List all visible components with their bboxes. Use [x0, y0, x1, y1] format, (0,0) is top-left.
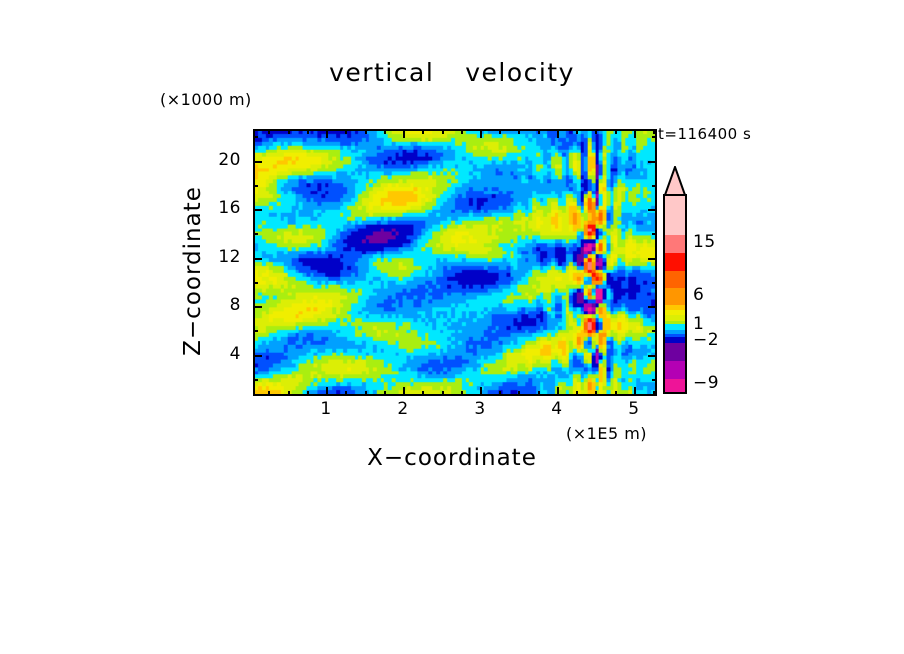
x-tick-minor	[538, 391, 540, 396]
y-tick-major	[253, 306, 262, 308]
x-tick-minor-top	[538, 129, 540, 134]
x-tick-minor-top	[268, 129, 270, 134]
x-tick-major-top	[403, 129, 405, 138]
contour-plot-area	[253, 129, 657, 396]
y-axis-unit-label: (×1000 m)	[160, 90, 252, 109]
y-tick-label: 4	[201, 344, 241, 364]
x-tick-major	[403, 387, 405, 396]
x-tick-minor-top	[307, 129, 309, 134]
figure-title: vertical velocity	[0, 58, 904, 87]
y-tick-major-right	[648, 209, 657, 211]
x-tick-minor	[461, 391, 463, 396]
x-tick-minor-top	[595, 129, 597, 134]
x-tick-label: 5	[619, 399, 649, 419]
x-tick-minor-top	[365, 129, 367, 134]
y-tick-minor-right	[652, 185, 657, 187]
x-axis-title: X−coordinate	[0, 445, 904, 471]
y-tick-label: 8	[201, 295, 241, 315]
x-tick-major	[480, 387, 482, 396]
x-tick-minor	[422, 391, 424, 396]
colorbar-label: −2	[693, 330, 719, 350]
colorbar-band	[665, 196, 685, 235]
y-tick-major-right	[648, 161, 657, 163]
y-tick-major	[253, 355, 262, 357]
x-tick-minor	[518, 391, 520, 396]
timestamp-annotation: t=116400 s	[658, 125, 751, 143]
x-tick-minor	[384, 391, 386, 396]
x-tick-minor	[653, 391, 655, 396]
y-tick-minor	[253, 233, 258, 235]
x-tick-minor	[365, 391, 367, 396]
y-tick-major-right	[648, 306, 657, 308]
colorbar-band	[665, 253, 685, 271]
y-tick-minor	[253, 282, 258, 284]
x-tick-major	[557, 387, 559, 396]
x-tick-minor	[576, 391, 578, 396]
x-tick-minor	[499, 391, 501, 396]
x-tick-minor-top	[288, 129, 290, 134]
colorbar-label: −9	[693, 373, 719, 393]
figure-vertical-velocity: vertical velocity (×1000 m) t=116400 s Z…	[0, 0, 904, 654]
x-tick-minor-top	[576, 129, 578, 134]
colorbar-band	[665, 361, 685, 379]
title-word-2: velocity	[465, 58, 575, 87]
colorbar-label: 15	[693, 232, 716, 252]
x-axis-unit-label: (×1E5 m)	[566, 424, 647, 443]
x-tick-minor-top	[653, 129, 655, 134]
x-tick-minor	[595, 391, 597, 396]
y-tick-minor	[253, 330, 258, 332]
colorbar	[663, 194, 687, 394]
y-tick-minor-right	[652, 282, 657, 284]
y-tick-major	[253, 161, 262, 163]
x-tick-minor	[268, 391, 270, 396]
x-tick-major	[326, 387, 328, 396]
y-tick-minor-right	[652, 330, 657, 332]
y-tick-minor-right	[652, 233, 657, 235]
x-tick-minor-top	[615, 129, 617, 134]
x-tick-major	[634, 387, 636, 396]
x-tick-minor	[307, 391, 309, 396]
x-tick-minor	[615, 391, 617, 396]
x-tick-minor	[442, 391, 444, 396]
x-tick-minor	[288, 391, 290, 396]
colorbar-label: 6	[693, 285, 704, 305]
x-tick-minor-top	[422, 129, 424, 134]
x-tick-label: 3	[465, 399, 495, 419]
colorbar-band	[665, 379, 685, 392]
colorbar-band	[665, 288, 685, 305]
y-tick-minor-right	[652, 136, 657, 138]
x-tick-minor	[345, 391, 347, 396]
y-tick-label: 12	[201, 247, 241, 267]
x-tick-major-top	[480, 129, 482, 138]
x-tick-minor-top	[461, 129, 463, 134]
x-tick-label: 4	[542, 399, 572, 419]
title-word-1: vertical	[329, 58, 434, 87]
x-tick-major-top	[326, 129, 328, 138]
y-tick-major	[253, 258, 262, 260]
vertical-velocity-field	[255, 131, 655, 394]
colorbar-band	[665, 271, 685, 288]
colorbar-band	[665, 235, 685, 253]
x-tick-minor-top	[384, 129, 386, 134]
y-tick-minor	[253, 379, 258, 381]
x-tick-label: 1	[311, 399, 341, 419]
y-tick-major-right	[648, 258, 657, 260]
x-tick-major-top	[634, 129, 636, 138]
y-tick-minor	[253, 136, 258, 138]
x-tick-label: 2	[388, 399, 418, 419]
x-tick-minor-top	[499, 129, 501, 134]
y-tick-major-right	[648, 355, 657, 357]
y-tick-label: 20	[201, 150, 241, 170]
y-tick-minor-right	[652, 379, 657, 381]
colorbar-arrow-icon	[663, 166, 687, 196]
x-tick-major-top	[557, 129, 559, 138]
y-tick-label: 16	[201, 198, 241, 218]
x-tick-minor-top	[442, 129, 444, 134]
x-tick-minor-top	[518, 129, 520, 134]
y-tick-minor	[253, 185, 258, 187]
colorbar-band	[665, 343, 685, 361]
x-tick-minor-top	[345, 129, 347, 134]
y-tick-major	[253, 209, 262, 211]
